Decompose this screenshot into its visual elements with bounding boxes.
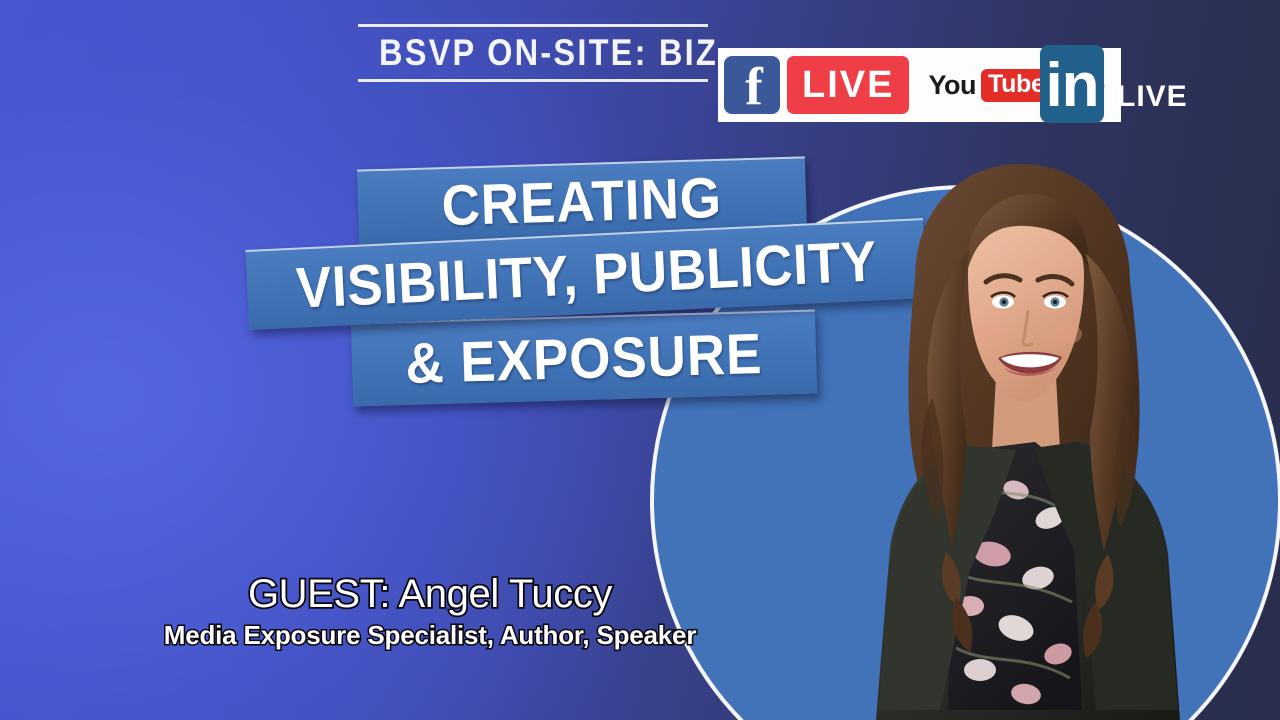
guest-name: GUEST: Angel Tuccy [150, 572, 710, 617]
facebook-badge[interactable]: f [724, 56, 780, 114]
broadcast-title-card: BSVP ON-SITE: BIZ f LIVE You Tube Live i… [0, 0, 1280, 720]
header: BSVP ON-SITE: BIZ f LIVE You Tube Live i… [0, 18, 1280, 118]
guest-caption: GUEST: Angel Tuccy Media Exposure Specia… [150, 572, 710, 651]
facebook-f-icon: f [724, 56, 780, 114]
guest-role: Media Exposure Specialist, Author, Speak… [150, 621, 710, 651]
title-plate-3: & EXPOSURE [351, 310, 817, 407]
title-plate-1-text: CREATING [441, 165, 723, 239]
show-title-block: BSVP ON-SITE: BIZ [358, 24, 708, 82]
title-plate-3-text: & EXPOSURE [405, 321, 764, 397]
linkedin-live-label: LIVE [1117, 80, 1188, 114]
facebook-live-badge[interactable]: LIVE [787, 56, 909, 114]
linkedin-badge[interactable]: in [1040, 45, 1104, 123]
linkedin-in-icon: in [1040, 45, 1104, 123]
guest-photo [820, 150, 1240, 720]
title-rule-bottom [358, 79, 708, 82]
show-title: BSVP ON-SITE: BIZ [379, 27, 687, 79]
youtube-you-text: You [928, 70, 976, 101]
